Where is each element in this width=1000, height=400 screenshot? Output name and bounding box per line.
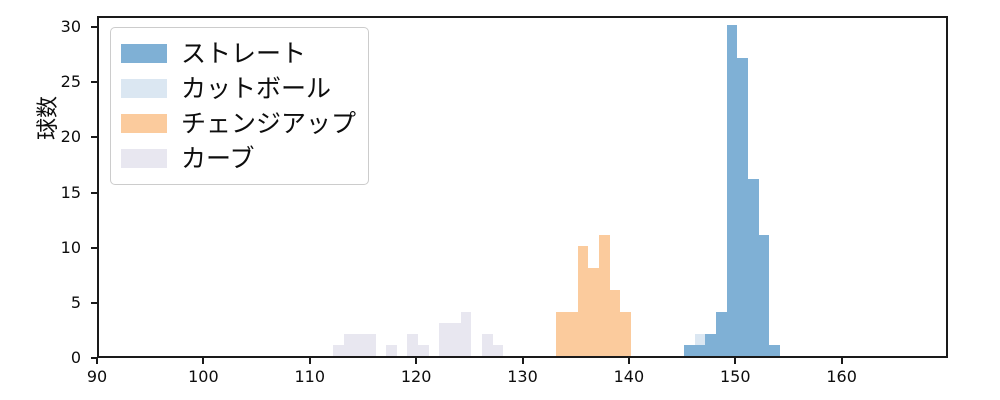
legend-item-label: ストレート — [181, 41, 306, 66]
y-axis-tick-label: 15 — [41, 185, 81, 201]
legend-item[interactable]: ストレート — [121, 36, 356, 71]
y-axis-tick-mark — [91, 247, 97, 249]
histogram-bar — [695, 345, 706, 356]
x-axis-tick-mark — [841, 358, 843, 364]
y-axis-tick-mark — [91, 81, 97, 83]
histogram-bar — [407, 334, 418, 356]
x-axis-tick-label: 150 — [705, 369, 765, 385]
histogram-bar — [365, 334, 376, 356]
histogram-bar — [684, 345, 695, 356]
legend-item[interactable]: カーブ — [121, 141, 356, 176]
histogram-bar — [386, 345, 397, 356]
histogram-figure: 球数 ストレートカットボールチェンジアップカーブ 051015202530901… — [0, 0, 1000, 400]
x-axis-tick-label: 100 — [173, 369, 233, 385]
y-axis-tick-label: 25 — [41, 74, 81, 90]
y-axis-tick-mark — [91, 26, 97, 28]
y-axis-tick-mark — [91, 302, 97, 304]
histogram-bar — [727, 25, 738, 356]
y-axis-tick-label: 5 — [41, 295, 81, 311]
x-axis-tick-mark — [96, 358, 98, 364]
histogram-bar — [759, 235, 770, 356]
histogram-bar — [620, 312, 631, 356]
histogram-bar — [578, 246, 589, 356]
x-axis-tick-label: 130 — [493, 369, 553, 385]
histogram-bar — [588, 268, 599, 356]
x-axis-tick-label: 90 — [67, 369, 127, 385]
histogram-bar — [769, 345, 780, 356]
legend-color-swatch — [121, 149, 167, 168]
legend-item[interactable]: カットボール — [121, 71, 356, 106]
x-axis-tick-mark — [202, 358, 204, 364]
x-axis-tick-mark — [628, 358, 630, 364]
y-axis-tick-mark — [91, 136, 97, 138]
x-axis-tick-mark — [309, 358, 311, 364]
y-axis-tick-label: 10 — [41, 240, 81, 256]
y-axis-tick-label: 0 — [41, 350, 81, 366]
legend-item-label: チェンジアップ — [181, 111, 356, 136]
x-axis-tick-mark — [415, 358, 417, 364]
x-axis-tick-label: 120 — [386, 369, 446, 385]
histogram-bar — [737, 58, 748, 356]
histogram-bar — [610, 290, 621, 356]
histogram-bar — [482, 334, 493, 356]
y-axis-tick-label: 20 — [41, 129, 81, 145]
x-axis-tick-label: 160 — [812, 369, 872, 385]
histogram-bar — [716, 312, 727, 356]
histogram-bar — [567, 312, 578, 356]
histogram-bar — [599, 235, 610, 356]
x-axis-tick-mark — [522, 358, 524, 364]
chart-legend: ストレートカットボールチェンジアップカーブ — [110, 27, 369, 185]
legend-color-swatch — [121, 114, 167, 133]
x-axis-tick-label: 110 — [280, 369, 340, 385]
x-axis-tick-label: 140 — [599, 369, 659, 385]
histogram-bar — [418, 345, 429, 356]
histogram-bar — [439, 323, 450, 356]
x-axis-tick-mark — [734, 358, 736, 364]
legend-color-swatch — [121, 79, 167, 98]
y-axis-tick-label: 30 — [41, 19, 81, 35]
histogram-bar — [493, 345, 504, 356]
histogram-bar — [354, 334, 365, 356]
histogram-bar — [705, 334, 716, 356]
histogram-bar — [344, 334, 355, 356]
y-axis-tick-mark — [91, 192, 97, 194]
legend-item[interactable]: チェンジアップ — [121, 106, 356, 141]
histogram-bar — [333, 345, 344, 356]
legend-item-label: カーブ — [181, 146, 255, 171]
histogram-bar — [556, 312, 567, 356]
legend-item-label: カットボール — [181, 76, 331, 101]
histogram-bar — [461, 312, 472, 356]
histogram-bar — [450, 323, 461, 356]
legend-color-swatch — [121, 44, 167, 63]
histogram-bar — [748, 179, 759, 356]
